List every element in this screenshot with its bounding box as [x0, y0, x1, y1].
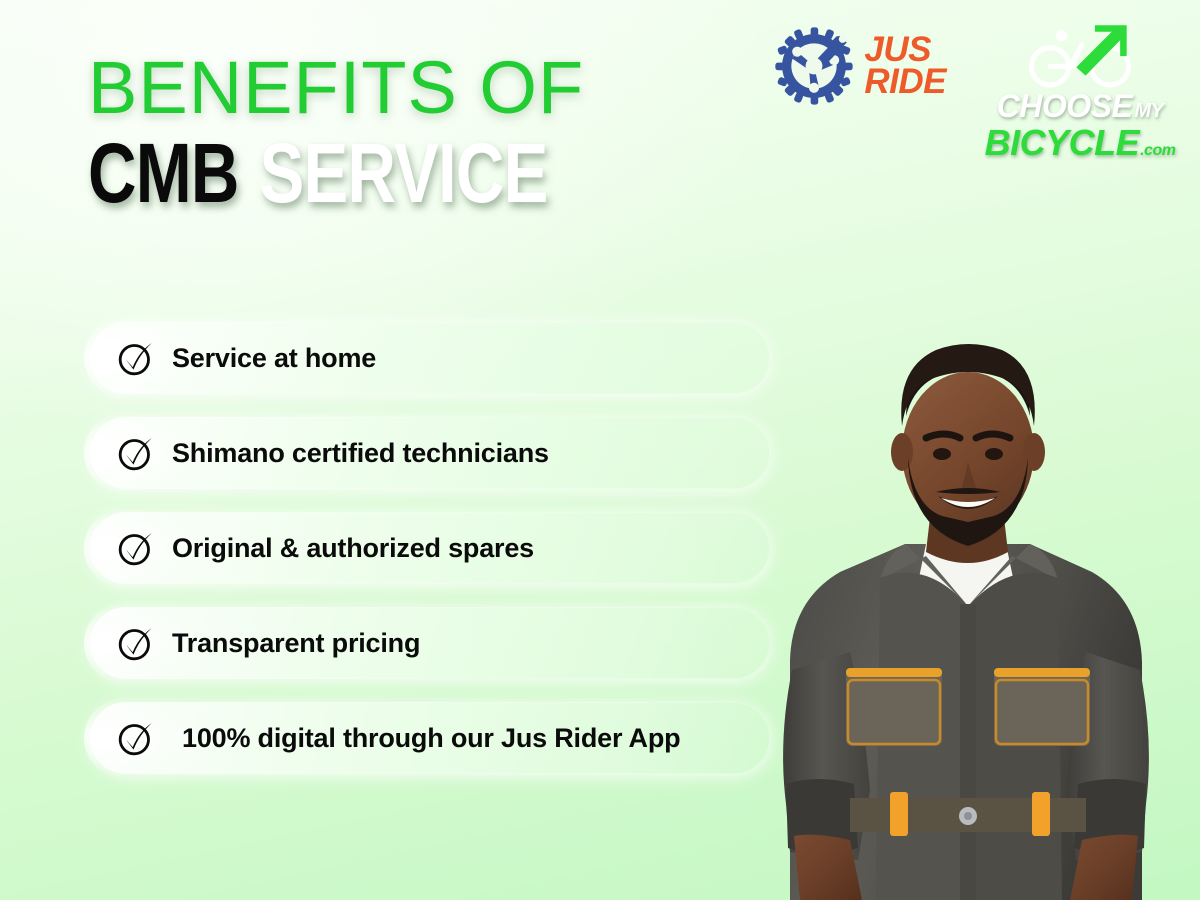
logo-group: JUS RIDE CHOOSE MY: [772, 24, 1170, 164]
logo-word-bicycle: BICYCLE: [985, 122, 1140, 164]
logo-word-dotcom: .com: [1140, 142, 1175, 160]
jusride-wordmark: JUS RIDE: [864, 34, 946, 98]
check-circle-icon: [116, 338, 156, 378]
logo-word-my: MY: [1134, 100, 1163, 123]
chainring-crank-icon: [772, 24, 856, 108]
benefit-label-2: Shimano certified technicians: [172, 438, 549, 469]
jusride-word-ride: RIDE: [864, 66, 946, 98]
choosemybicycle-logo[interactable]: CHOOSE MY BICYCLE .com: [990, 24, 1170, 164]
title-line-benefits-of: BENEFITS OF: [88, 52, 708, 125]
technician-photo: [730, 200, 1200, 900]
check-circle-icon: [116, 528, 156, 568]
jusride-logo[interactable]: JUS RIDE: [772, 24, 946, 108]
title-brand-cmb: CMB: [88, 126, 239, 220]
benefit-row-4[interactable]: Transparent pricing: [90, 607, 770, 679]
benefit-row-3[interactable]: Original & authorized spares: [90, 512, 770, 584]
benefit-label-4: Transparent pricing: [172, 628, 420, 659]
bicycle-arrow-icon: [1024, 24, 1136, 90]
check-circle-icon: [116, 433, 156, 473]
poster-canvas: BENEFITS OF CMBSERVICE: [0, 0, 1200, 900]
choosemybicycle-wordmark-top: CHOOSE MY: [997, 88, 1164, 125]
check-circle-icon: [116, 718, 156, 758]
logo-word-choose: CHOOSE: [997, 88, 1133, 125]
benefit-row-1[interactable]: Service at home: [90, 322, 770, 394]
title-word-service: SERVICE: [259, 126, 547, 220]
benefit-row-5[interactable]: 100% digital through our Jus Rider App: [90, 702, 770, 774]
benefit-row-2[interactable]: Shimano certified technicians: [90, 417, 770, 489]
benefits-list: Service at home Shimano certified techni…: [90, 322, 770, 797]
choosemybicycle-wordmark-bottom: BICYCLE .com: [985, 122, 1176, 164]
benefit-label-5: 100% digital through our Jus Rider App: [182, 723, 680, 754]
benefit-label-3: Original & authorized spares: [172, 533, 534, 564]
title-line-cmb-service: CMBSERVICE: [88, 131, 584, 215]
benefit-label-1: Service at home: [172, 343, 376, 374]
check-circle-icon: [116, 623, 156, 663]
page-title: BENEFITS OF CMBSERVICE: [88, 52, 708, 215]
